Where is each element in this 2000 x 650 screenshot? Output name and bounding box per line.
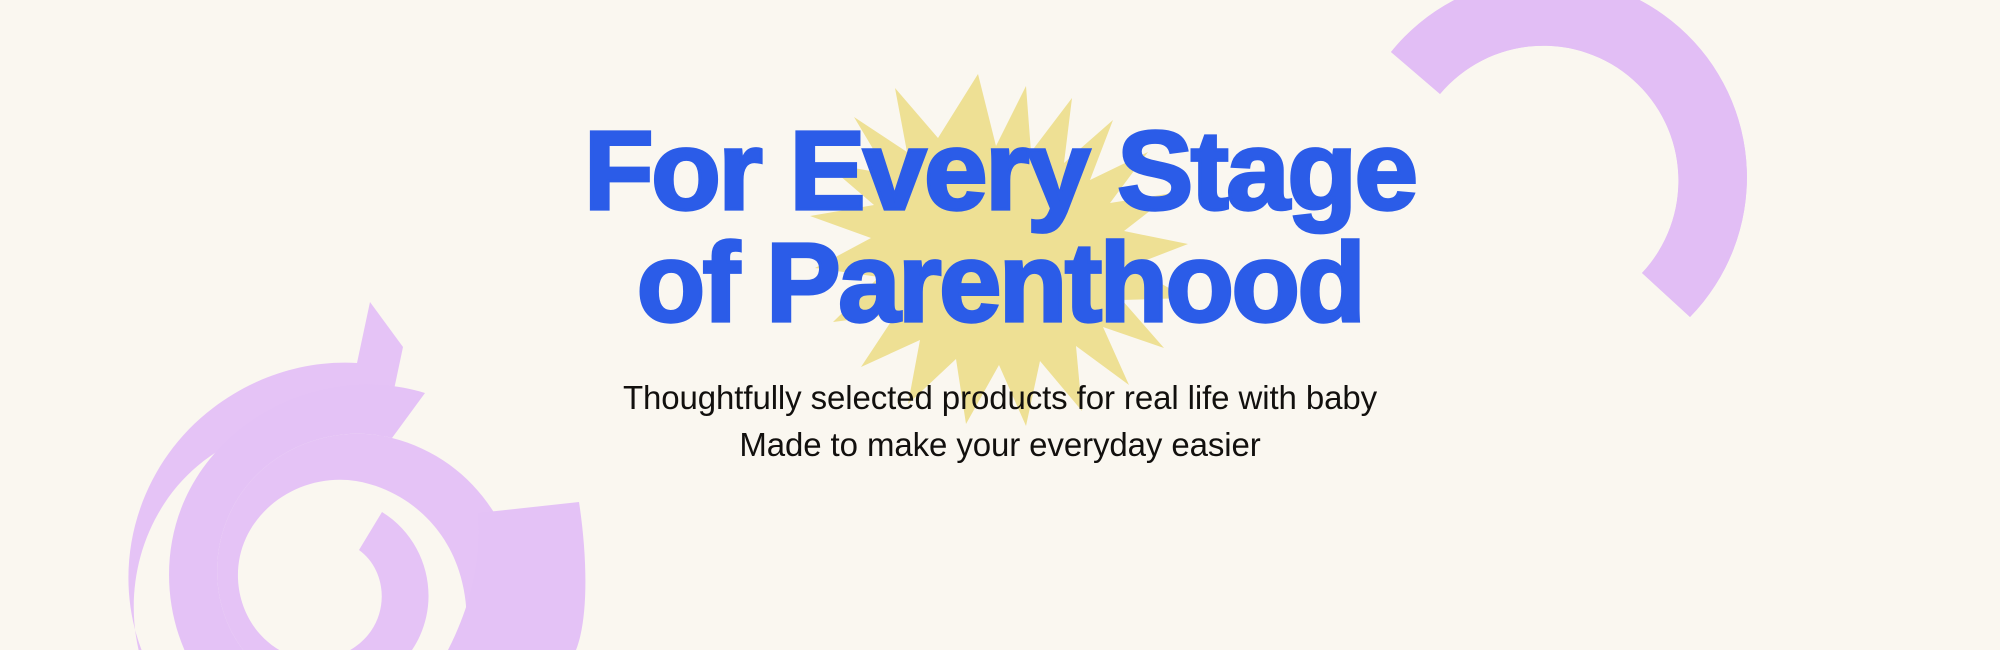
page-title: For Every Stage of Parenthood bbox=[592, 118, 1407, 337]
page-subtitle-line-2: Made to make your everyday easier bbox=[623, 422, 1377, 469]
hero-content: For Every Stage of Parenthood Thoughtful… bbox=[0, 0, 2000, 650]
page-subtitle-line-1: Thoughtfully selected products for real … bbox=[623, 375, 1377, 422]
page-title-line-1: For Every Stage bbox=[584, 118, 1416, 224]
page-subtitle: Thoughtfully selected products for real … bbox=[623, 375, 1377, 469]
hero-banner: For Every Stage of Parenthood Thoughtful… bbox=[0, 0, 2000, 650]
page-title-line-2: of Parenthood bbox=[592, 230, 1407, 336]
